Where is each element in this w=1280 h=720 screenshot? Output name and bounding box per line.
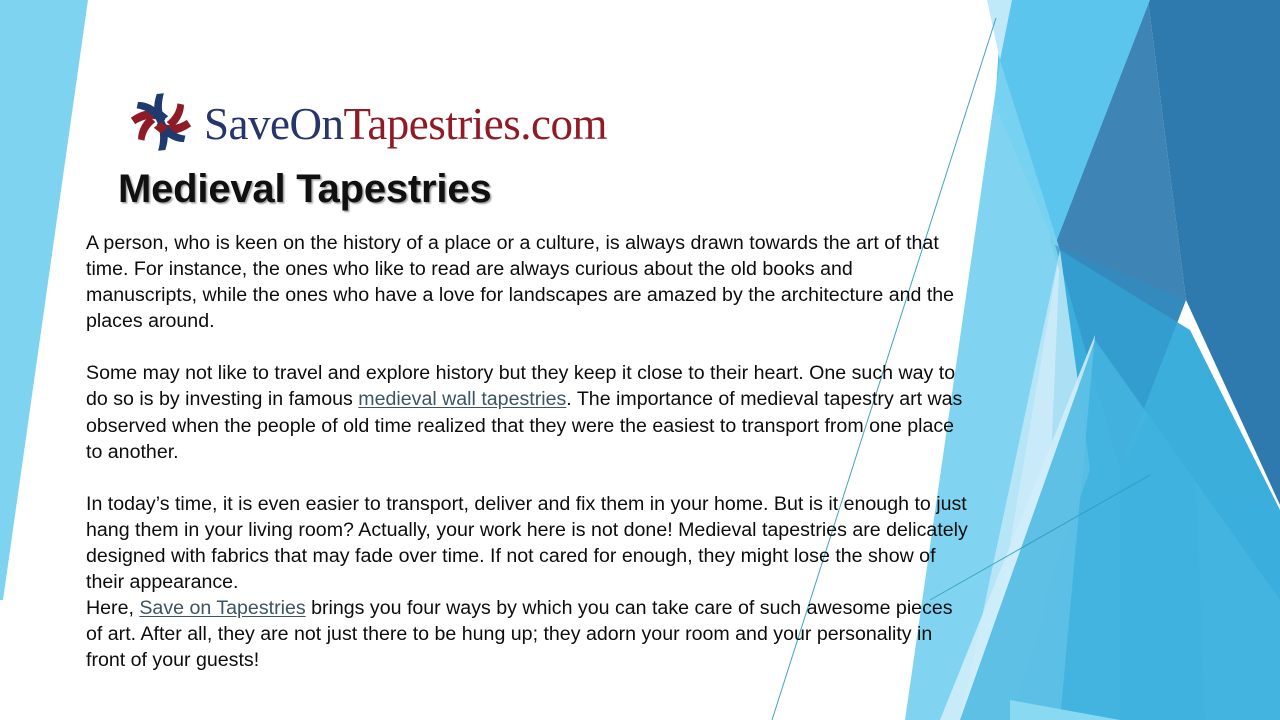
- brand-logo: SaveOnTapestries.com: [124, 86, 607, 158]
- paragraph-spacer: [86, 465, 968, 491]
- page-title: Medieval Tapestries: [118, 167, 491, 212]
- woven-pinwheel-logo-icon: [124, 89, 198, 155]
- paragraph-4-lead: Here,: [86, 597, 139, 619]
- wordmark-saveon: SaveOn: [204, 99, 343, 149]
- paragraph-spacer: [86, 334, 968, 360]
- slide-content: SaveOnTapestries.com Medieval Tapestries…: [0, 0, 1280, 720]
- link-medieval-wall-tapestries[interactable]: medieval wall tapestries: [358, 388, 566, 410]
- body-paragraph-3: In today’s time, it is even easier to tr…: [86, 491, 968, 595]
- presentation-slide: SaveOnTapestries.com Medieval Tapestries…: [0, 0, 1280, 720]
- body-paragraph-2: Some may not like to travel and explore …: [86, 360, 968, 464]
- wordmark-tapestries: Tapestries.com: [343, 99, 607, 149]
- body-paragraph-4: Here, Save on Tapestries brings you four…: [86, 595, 968, 673]
- link-save-on-tapestries[interactable]: Save on Tapestries: [139, 597, 305, 619]
- body-paragraph-1: A person, who is keen on the history of …: [86, 230, 968, 334]
- brand-wordmark: SaveOnTapestries.com: [204, 102, 607, 147]
- slide-body-text: A person, who is keen on the history of …: [86, 230, 968, 673]
